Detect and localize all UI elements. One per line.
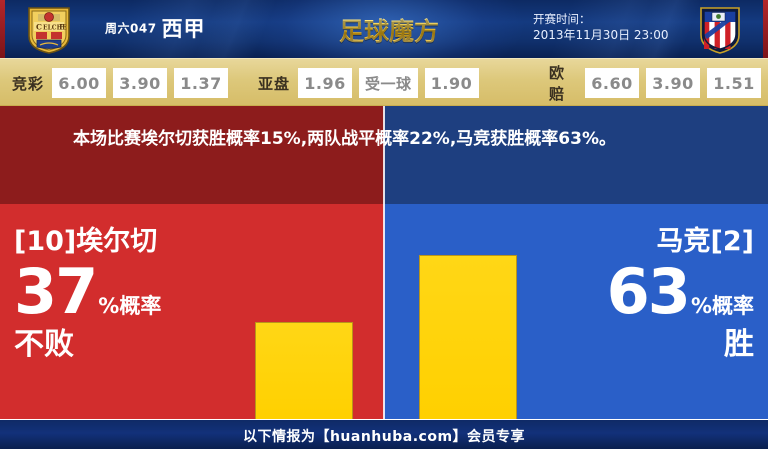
odds-bar: 竞彩 6.00 3.90 1.37 亚盘 1.96 受一球 1.90 欧赔 6.… [0, 58, 768, 106]
odds-group-yapan: 亚盘 1.96 受一球 1.90 [258, 68, 486, 98]
home-probability-row: 37 %概率 [14, 261, 284, 323]
home-probability-unit: %概率 [98, 296, 161, 317]
kickoff-time: 开赛时间： 2013年11月30日 23:00 [533, 11, 668, 43]
odds-group-title: 欧赔 [549, 62, 577, 104]
home-banner-background [0, 106, 384, 204]
odds-cell[interactable]: 3.90 [646, 68, 700, 98]
away-outcome-label: 胜 [484, 327, 754, 363]
league-name-label: 西甲 [162, 17, 206, 41]
odds-group-oupei: 欧赔 6.60 3.90 1.51 [549, 68, 768, 98]
away-probability-value: 63 [607, 261, 689, 323]
footer-bar: 以下情报为【huanhuba.com】会员专享 [0, 419, 768, 449]
away-probability-unit: %概率 [691, 296, 754, 317]
footer-membership-notice: 以下情报为【huanhuba.com】会员专享 [0, 426, 768, 446]
home-outcome-label: 不败 [14, 327, 284, 363]
away-team-stats: 马竞[2] 63 %概率 胜 [484, 226, 754, 363]
header-right-accent [763, 0, 768, 58]
prediction-panel: [10]埃尔切 37 %概率 不败 马竞[2] 63 %概率 胜 本场比赛埃 [0, 106, 768, 419]
svg-text:F: F [59, 23, 65, 32]
match-round-label: 周六047 [105, 22, 157, 36]
elche-cf-crest-icon: C ELCHE F [26, 5, 72, 55]
odds-cell[interactable]: 1.90 [425, 68, 479, 98]
svg-text:C: C [36, 23, 42, 32]
kickoff-time-label: 开赛时间： [533, 11, 668, 27]
away-probability-row: 63 %概率 [484, 261, 754, 323]
header-bar: C ELCHE F 周六047西甲 足球魔方 开赛时间： 2013年11月30日… [0, 0, 768, 58]
odds-cell[interactable]: 1.37 [174, 68, 228, 98]
match-prediction-graphic: C ELCHE F 周六047西甲 足球魔方 开赛时间： 2013年11月30日… [0, 0, 768, 449]
odds-cell[interactable]: 6.00 [52, 68, 106, 98]
odds-cell[interactable]: 3.90 [113, 68, 167, 98]
odds-group-jingcai: 竞彩 6.00 3.90 1.37 [12, 68, 235, 98]
atletico-madrid-crest-icon [697, 5, 743, 55]
odds-cell[interactable]: 1.51 [707, 68, 761, 98]
odds-group-title: 竞彩 [12, 73, 44, 94]
home-probability-value: 37 [14, 261, 96, 323]
kickoff-time-value: 2013年11月30日 23:00 [533, 27, 668, 43]
odds-group-title: 亚盘 [258, 73, 290, 94]
header-left-accent [0, 0, 5, 58]
brand-logo-label: 足球魔方 [325, 12, 453, 48]
prediction-summary-text: 本场比赛埃尔切获胜概率15%,两队战平概率22%,马竞获胜概率63%。 [73, 125, 698, 153]
brand-logo[interactable]: 足球魔方 [325, 4, 453, 54]
match-title: 周六047西甲 [105, 13, 325, 43]
away-team-name: 马竞[2] [484, 226, 754, 258]
home-team-name: [10]埃尔切 [14, 226, 284, 258]
odds-cell[interactable]: 1.96 [298, 68, 352, 98]
away-banner-background [384, 106, 768, 204]
home-team-stats: [10]埃尔切 37 %概率 不败 [14, 226, 284, 363]
odds-cell-handicap[interactable]: 受一球 [359, 68, 418, 98]
odds-cell[interactable]: 6.60 [585, 68, 639, 98]
